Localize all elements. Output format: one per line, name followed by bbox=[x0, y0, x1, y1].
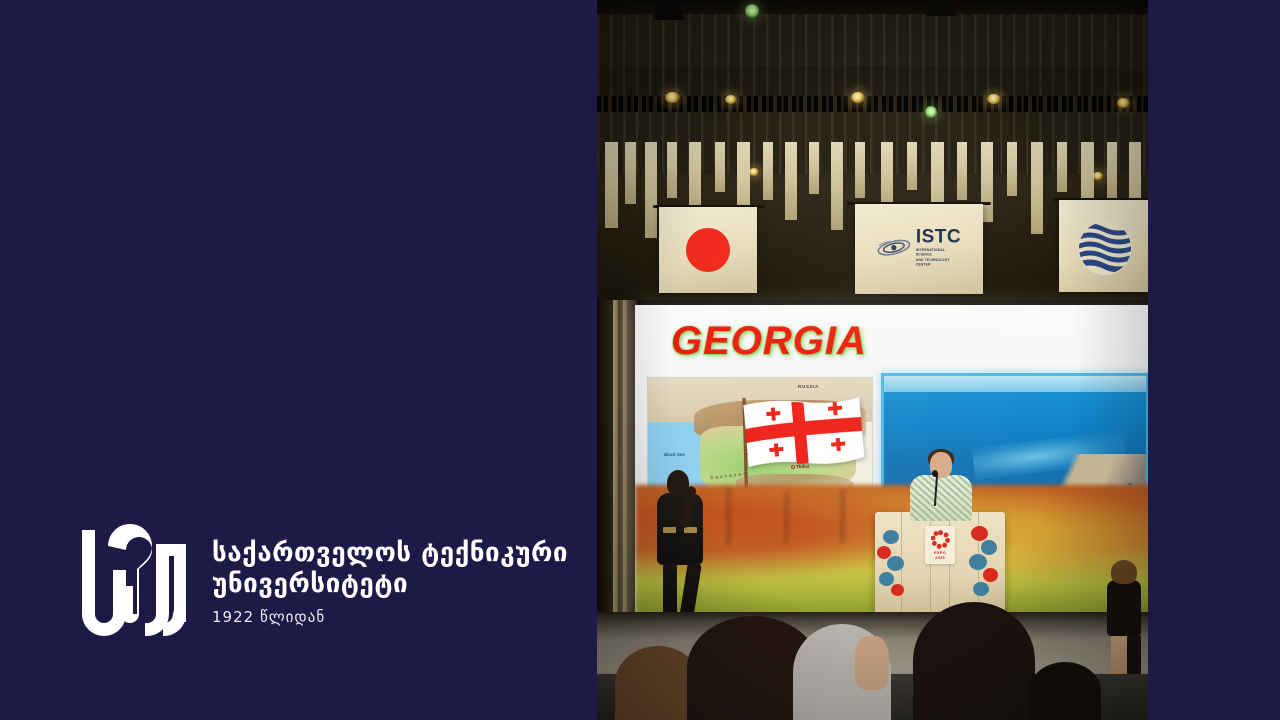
hanging-drape bbox=[1107, 142, 1117, 202]
audience-raised-hand bbox=[855, 636, 889, 690]
university-name-block: საქართველოს ტექნიკური უნივერსიტეტი 1922 … bbox=[212, 524, 568, 626]
university-since-label: 1922 წლიდან bbox=[212, 608, 568, 626]
georgian-flag-icon bbox=[741, 391, 867, 473]
hanging-drape bbox=[957, 142, 967, 200]
brand-panel: საქართველოს ტექნიკური უნივერსიტეტი 1922 … bbox=[0, 0, 597, 720]
stage-spot-light bbox=[851, 92, 865, 103]
hanging-drape bbox=[645, 142, 657, 238]
stage-spot-light bbox=[749, 168, 759, 176]
stage-side-wall bbox=[597, 300, 637, 620]
japan-flag-banner bbox=[659, 207, 757, 293]
event-photograph: ISTC INTERNATIONAL SCIENCE AND TECHNOLOG… bbox=[597, 0, 1148, 720]
hanging-drape bbox=[1057, 142, 1067, 192]
stage-spot-light bbox=[1117, 98, 1130, 108]
stu-logo-icon bbox=[78, 524, 190, 636]
university-name-line1: საქართველოს ტექნიკური bbox=[212, 538, 568, 569]
hanging-drape bbox=[715, 142, 725, 192]
globe-emblem-banner bbox=[1059, 200, 1148, 292]
hanging-drape bbox=[809, 142, 819, 194]
map-label-black-sea: Black Sea bbox=[664, 452, 685, 457]
green-stage-light bbox=[745, 4, 759, 18]
university-logo-lockup: საქართველოს ტექნიკური უნივერსიტეტი 1922 … bbox=[78, 524, 568, 636]
speaker-at-podium bbox=[905, 452, 977, 518]
hanging-drape bbox=[831, 142, 843, 230]
hanging-drape bbox=[1007, 142, 1017, 196]
hanging-drape bbox=[855, 142, 865, 198]
hanging-drape bbox=[785, 142, 797, 220]
expo-year: 2025 bbox=[935, 555, 945, 560]
university-name-line2: უნივერსიტეტი bbox=[212, 569, 568, 600]
hanging-drape bbox=[625, 142, 636, 204]
stage-spot-light bbox=[987, 94, 1001, 104]
stage-spot-light bbox=[725, 95, 737, 104]
hanging-drape bbox=[605, 142, 618, 228]
audience-foreground bbox=[597, 590, 1148, 720]
hanging-drape bbox=[667, 142, 677, 198]
map-label-russia: RUSSIA bbox=[798, 384, 819, 389]
istc-acronym: ISTC bbox=[916, 228, 961, 247]
japan-sun-disc-icon bbox=[686, 228, 730, 272]
istc-tagline-line1: INTERNATIONAL SCIENCE bbox=[916, 248, 945, 257]
istc-swirl-icon bbox=[877, 236, 911, 258]
striped-globe-icon bbox=[1078, 221, 1132, 275]
istc-tagline-line2: AND TECHNOLOGY CENTER bbox=[916, 258, 950, 267]
microphone-head bbox=[932, 470, 938, 477]
expo-2025-badge: EXPO 2025 bbox=[925, 526, 955, 564]
audience-head bbox=[1029, 662, 1101, 720]
hanging-drape bbox=[763, 142, 773, 200]
stage-spot-light bbox=[665, 92, 680, 103]
green-stage-light bbox=[925, 106, 937, 118]
stage-spot-light bbox=[1093, 172, 1103, 180]
curtain-upper bbox=[597, 14, 1148, 66]
hanging-drape bbox=[1031, 142, 1043, 234]
audience-head bbox=[913, 602, 1035, 720]
hanging-drape bbox=[907, 142, 917, 190]
istc-banner: ISTC INTERNATIONAL SCIENCE AND TECHNOLOG… bbox=[855, 204, 983, 294]
expo-ring-icon bbox=[931, 530, 950, 549]
curtain-mid bbox=[597, 66, 1148, 96]
slide-title-georgia: GEORGIA bbox=[671, 319, 867, 364]
